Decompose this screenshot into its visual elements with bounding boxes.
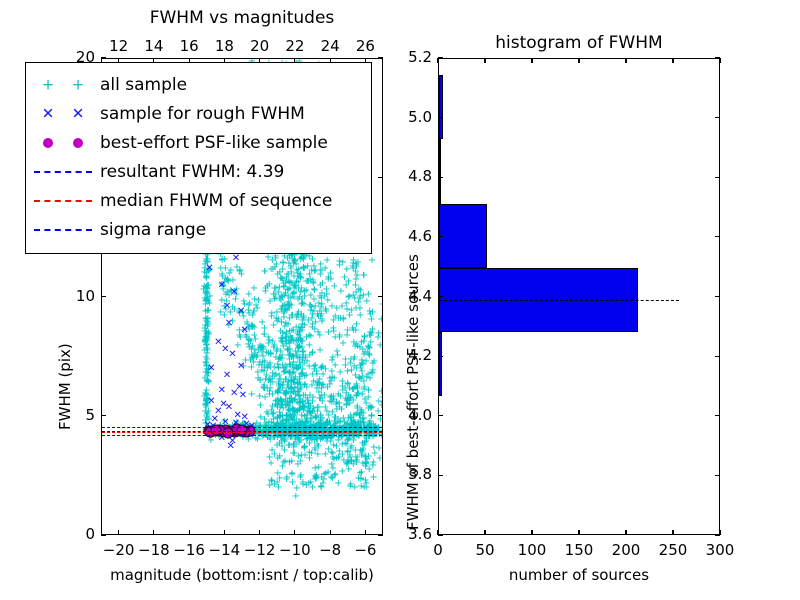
scatter-point-rough-sample: ✕ [239,391,247,401]
scatter-point-all-sample: + [346,359,354,369]
scatter-point-all-sample: + [264,410,272,420]
scatter-ytick-right [378,57,383,58]
scatter-point-all-sample: + [207,425,215,435]
scatter-point-all-sample: + [278,354,286,364]
scatter-ytick [101,415,106,416]
histogram-xticklabel: 50 [463,541,507,559]
scatter-point-all-sample: + [336,331,344,341]
scatter-point-all-sample: + [355,429,363,439]
scatter-point-all-sample: + [299,354,307,364]
scatter-point-all-sample: + [339,315,347,325]
scatter-point-all-sample: + [295,406,303,416]
scatter-point-all-sample: + [282,375,290,385]
scatter-point-all-sample: + [378,401,382,411]
scatter-point-all-sample: + [317,411,325,421]
scatter-point-all-sample: + [354,421,362,431]
scatter-point-all-sample: + [274,414,282,424]
scatter-point-all-sample: + [225,269,233,279]
scatter-point-all-sample: + [376,415,382,425]
scatter-point-all-sample: + [329,464,337,474]
scatter-point-all-sample: + [203,346,211,356]
scatter-point-all-sample: + [283,254,291,264]
legend-item[interactable]: median FHWM of sequence [26,186,371,215]
scatter-point-all-sample: + [321,403,329,413]
scatter-point-all-sample: + [285,394,293,404]
scatter-point-all-sample: + [291,256,299,266]
scatter-point-all-sample: + [316,346,324,356]
scatter-point-all-sample: + [202,255,210,265]
scatter-point-all-sample: + [212,429,220,439]
histogram-ytick-right [715,296,720,297]
scatter-point-all-sample: + [282,425,290,435]
scatter-point-all-sample: + [205,377,213,387]
scatter-point-all-sample: + [278,334,286,344]
scatter-point-all-sample: + [203,409,211,419]
scatter-point-all-sample: + [227,266,235,276]
scatter-point-all-sample: + [261,287,269,297]
scatter-title: FWHM vs magnitudes [101,8,383,28]
scatter-point-all-sample: + [295,334,303,344]
scatter-point-all-sample: + [274,355,282,365]
scatter-point-all-sample: + [353,404,361,414]
scatter-point-all-sample: + [364,290,372,300]
scatter-point-all-sample: + [312,421,320,431]
scatter-point-all-sample: + [346,393,354,403]
scatter-point-all-sample: + [317,294,325,304]
scatter-point-all-sample: + [322,421,330,431]
scatter-point-all-sample: + [289,326,297,336]
scatter-point-all-sample: + [315,428,323,438]
scatter-point-all-sample: + [277,396,285,406]
scatter-point-all-sample: + [316,375,324,385]
scatter-point-all-sample: + [362,399,370,409]
scatter-point-all-sample: + [284,277,292,287]
scatter-point-all-sample: + [338,433,346,443]
histogram-bar [439,139,441,203]
scatter-point-all-sample: + [335,261,343,271]
legend-item[interactable]: ✕✕sample for rough FWHM [26,99,371,128]
scatter-point-all-sample: + [232,285,240,295]
scatter-point-all-sample: + [301,321,309,331]
scatter-point-all-sample: + [318,473,326,483]
scatter-point-all-sample: + [334,351,342,361]
scatter-point-rough-sample: ✕ [214,407,222,417]
scatter-point-all-sample: + [352,288,360,298]
scatter-point-all-sample: + [331,413,339,423]
scatter-point-all-sample: + [295,432,303,442]
scatter-point-all-sample: + [255,361,263,371]
scatter-point-all-sample: + [313,310,321,320]
scatter-point-all-sample: + [230,287,238,297]
figure-canvas: FWHM vs magnitudes +++++++++++++++++++++… [0,0,800,600]
scatter-point-all-sample: + [301,391,309,401]
scatter-point-all-sample: + [274,421,282,431]
scatter-point-all-sample: + [297,324,305,334]
scatter-point-all-sample: + [249,323,257,333]
scatter-point-all-sample: + [377,387,382,397]
scatter-point-all-sample: + [348,442,356,452]
scatter-point-all-sample: + [295,392,303,402]
scatter-point-all-sample: + [295,438,303,448]
scatter-point-all-sample: + [246,337,254,347]
scatter-point-all-sample: + [272,421,280,431]
scatter-point-all-sample: + [338,382,346,392]
scatter-point-all-sample: + [260,367,268,377]
scatter-point-all-sample: + [273,403,281,413]
scatter-point-all-sample: + [265,361,273,371]
histogram-ytick [438,57,443,58]
scatter-point-all-sample: + [202,386,210,396]
dashdot-line-icon [34,229,92,231]
histogram-xticklabel: 100 [510,541,554,559]
scatter-point-all-sample: + [361,348,369,358]
scatter-point-all-sample: + [263,384,271,394]
scatter-point-all-sample: + [299,369,307,379]
scatter-point-all-sample: + [309,276,317,286]
scatter-point-all-sample: + [285,441,293,451]
scatter-point-all-sample: + [343,458,351,468]
scatter-point-all-sample: + [235,307,243,317]
scatter-point-all-sample: + [352,275,360,285]
scatter-point-all-sample: + [260,324,268,334]
scatter-point-all-sample: + [279,421,287,431]
scatter-point-all-sample: + [265,336,273,346]
scatter-point-all-sample: + [292,284,300,294]
scatter-point-all-sample: + [291,433,299,443]
scatter-point-all-sample: + [279,302,287,312]
scatter-point-all-sample: + [359,360,367,370]
scatter-point-all-sample: + [294,460,302,470]
legend-label: sigma range [100,220,206,240]
scatter-point-all-sample: + [287,384,295,394]
scatter-ytick [101,296,106,297]
scatter-point-all-sample: + [298,348,306,358]
scatter-point-all-sample: + [269,343,277,353]
scatter-point-all-sample: + [245,301,253,311]
scatter-point-all-sample: + [335,447,343,457]
scatter-point-rough-sample: ✕ [223,302,231,312]
scatter-point-all-sample: + [289,255,297,265]
scatter-point-all-sample: + [220,278,228,288]
scatter-point-all-sample: + [305,439,313,449]
scatter-point-all-sample: + [302,415,310,425]
scatter-point-all-sample: + [312,473,320,483]
scatter-point-all-sample: + [302,481,310,491]
scatter-point-all-sample: + [229,276,237,286]
scatter-point-all-sample: + [298,428,306,438]
scatter-point-all-sample: + [244,424,252,434]
scatter-point-all-sample: + [225,321,233,331]
scatter-point-all-sample: + [277,424,285,434]
scatter-point-all-sample: + [296,398,304,408]
scatter-point-all-sample: + [283,401,291,411]
scatter-point-all-sample: + [277,334,285,344]
scatter-point-rough-sample: ✕ [230,425,238,435]
scatter-point-all-sample: + [297,274,305,284]
scatter-point-all-sample: + [361,438,369,448]
scatter-point-all-sample: + [218,256,226,266]
scatter-point-all-sample: + [270,295,278,305]
scatter-point-rough-sample: ✕ [223,371,231,381]
scatter-point-all-sample: + [348,324,356,334]
scatter-point-all-sample: + [202,335,210,345]
scatter-point-all-sample: + [352,340,360,350]
scatter-point-all-sample: + [256,401,264,411]
scatter-point-all-sample: + [354,418,362,428]
scatter-point-all-sample: + [352,262,360,272]
scatter-point-all-sample: + [279,416,287,426]
scatter-point-all-sample: + [284,378,292,388]
scatter-point-all-sample: + [201,333,209,343]
scatter-point-all-sample: + [250,295,258,305]
scatter-point-all-sample: + [298,254,306,264]
scatter-point-all-sample: + [319,433,327,443]
scatter-point-all-sample: + [317,303,325,313]
scatter-point-all-sample: + [315,420,323,430]
legend-label: sample for rough FWHM [100,104,305,124]
scatter-point-all-sample: + [330,424,338,434]
scatter-point-rough-sample: ✕ [235,383,243,393]
legend-marker: ++ [26,75,100,95]
scatter-point-all-sample: + [254,368,262,378]
scatter-point-all-sample: + [353,384,361,394]
scatter-point-all-sample: + [302,417,310,427]
scatter-point-all-sample: + [204,264,212,274]
scatter-point-all-sample: + [305,270,313,280]
scatter-point-all-sample: + [316,312,324,322]
scatter-point-all-sample: + [271,432,279,442]
scatter-point-all-sample: + [248,322,256,332]
scatter-point-all-sample: + [322,418,330,428]
scatter-point-all-sample: + [343,448,351,458]
scatter-point-all-sample: + [203,281,211,291]
scatter-point-all-sample: + [343,305,351,315]
scatter-point-all-sample: + [353,409,361,419]
scatter-point-all-sample: + [252,301,260,311]
scatter-point-all-sample: + [310,424,318,434]
scatter-point-all-sample: + [273,413,281,423]
scatter-point-all-sample: + [299,253,307,263]
scatter-point-all-sample: + [283,416,291,426]
scatter-point-all-sample: + [304,316,312,326]
scatter-point-all-sample: + [308,414,316,424]
scatter-point-all-sample: + [299,365,307,375]
histogram-xlabel: number of sources [438,566,720,584]
scatter-point-all-sample: + [345,425,353,435]
scatter-point-all-sample: + [282,333,290,343]
scatter-point-all-sample: + [324,273,332,283]
scatter-point-all-sample: + [286,360,294,370]
scatter-point-all-sample: + [288,394,296,404]
scatter-point-all-sample: + [298,326,306,336]
scatter-point-all-sample: + [246,428,254,438]
scatter-ytick-right [378,177,383,178]
scatter-point-all-sample: + [298,337,306,347]
scatter-point-all-sample: + [242,331,250,341]
scatter-point-all-sample: + [379,398,382,408]
scatter-point-all-sample: + [202,361,210,371]
scatter-point-all-sample: + [203,257,211,267]
scatter-point-all-sample: + [282,475,290,485]
scatter-point-all-sample: + [286,410,294,420]
scatter-point-all-sample: + [201,260,209,270]
scatter-point-all-sample: + [287,387,295,397]
scatter-point-all-sample: + [278,335,286,345]
scatter-point-all-sample: + [202,269,210,279]
scatter-point-all-sample: + [302,333,310,343]
scatter-point-all-sample: + [253,351,261,361]
scatter-point-all-sample: + [305,362,313,372]
scatter-point-all-sample: + [320,391,328,401]
scatter-point-all-sample: + [281,375,289,385]
legend-item[interactable]: ++all sample [26,70,371,99]
scatter-point-all-sample: + [280,458,288,468]
scatter-point-all-sample: + [347,457,355,467]
scatter-point-all-sample: + [256,376,264,386]
scatter-point-all-sample: + [303,411,311,421]
scatter-point-all-sample: + [289,387,297,397]
scatter-point-all-sample: + [307,332,315,342]
scatter-point-all-sample: + [294,284,302,294]
histogram-xtick-top [719,58,720,63]
scatter-point-rough-sample: ✕ [241,413,249,423]
scatter-point-all-sample: + [290,365,298,375]
scatter-point-all-sample: + [244,340,252,350]
scatter-point-all-sample: + [203,288,211,298]
plus-marker-icon: + [72,77,85,92]
scatter-point-all-sample: + [275,283,283,293]
scatter-point-all-sample: + [254,346,262,356]
scatter-point-all-sample: + [306,306,314,316]
scatter-point-all-sample: + [307,421,315,431]
legend-label: median FHWM of sequence [100,191,332,211]
scatter-point-all-sample: + [326,380,334,390]
circle-marker-icon [73,138,83,148]
scatter-point-all-sample: + [290,411,298,421]
scatter-point-all-sample: + [299,402,307,412]
scatter-point-all-sample: + [334,436,342,446]
scatter-point-all-sample: + [277,437,285,447]
scatter-point-rough-sample: ✕ [237,307,245,317]
histogram-yticklabel: 4.8 [390,167,432,185]
scatter-point-all-sample: + [287,428,295,438]
scatter-point-all-sample: + [350,353,358,363]
scatter-point-all-sample: + [352,260,360,270]
scatter-xtick-bottom [365,530,366,535]
scatter-point-all-sample: + [282,435,290,445]
histogram-ylabel: FWHM of best-effort PSF-like sources [404,254,422,530]
scatter-point-all-sample: + [316,281,324,291]
scatter-point-all-sample: + [304,429,312,439]
scatter-point-all-sample: + [365,351,373,361]
scatter-point-all-sample: + [203,329,211,339]
scatter-point-all-sample: + [245,336,253,346]
scatter-point-all-sample: + [364,424,372,434]
scatter-point-all-sample: + [292,421,300,431]
scatter-point-all-sample: + [259,432,267,442]
legend-item[interactable]: best-effort PSF-like sample [26,128,371,157]
scatter-point-all-sample: + [244,429,252,439]
scatter-point-all-sample: + [365,343,373,353]
scatter-point-all-sample: + [204,297,212,307]
histogram-xtick-top [578,58,579,63]
scatter-point-all-sample: + [223,275,231,285]
scatter-point-all-sample: + [283,270,291,280]
scatter-point-all-sample: + [226,286,234,296]
scatter-point-all-sample: + [204,281,212,291]
scatter-point-all-sample: + [284,346,292,356]
scatter-point-all-sample: + [309,404,317,414]
scatter-point-all-sample: + [237,270,245,280]
scatter-point-all-sample: + [353,271,361,281]
scatter-point-all-sample: + [375,444,382,454]
scatter-point-all-sample: + [291,406,299,416]
scatter-point-all-sample: + [287,353,295,363]
scatter-point-all-sample: + [370,357,378,367]
scatter-point-all-sample: + [350,420,358,430]
scatter-point-all-sample: + [362,483,370,493]
scatter-point-all-sample: + [199,285,207,295]
scatter-point-all-sample: + [283,286,291,296]
histogram-xtick-top [531,58,532,63]
legend-item[interactable]: resultant FWHM: 4.39 [26,157,371,186]
histogram-ytick-right [715,415,720,416]
scatter-point-all-sample: + [353,384,361,394]
scatter-point-all-sample: + [273,387,281,397]
scatter-point-all-sample: + [268,390,276,400]
scatter-point-all-sample: + [366,328,374,338]
scatter-point-all-sample: + [277,375,285,385]
scatter-point-all-sample: + [218,428,226,438]
scatter-point-all-sample: + [274,360,282,370]
scatter-point-all-sample: + [368,308,376,318]
scatter-point-all-sample: + [278,293,286,303]
scatter-point-all-sample: + [202,341,210,351]
scatter-point-all-sample: + [259,383,267,393]
scatter-yticklabel: 10 [59,287,95,305]
scatter-point-all-sample: + [283,415,291,425]
scatter-point-all-sample: + [356,417,364,427]
scatter-point-all-sample: + [341,361,349,371]
scatter-point-all-sample: + [306,301,314,311]
scatter-point-all-sample: + [297,411,305,421]
scatter-point-all-sample: + [203,330,211,340]
scatter-point-all-sample: + [308,255,316,265]
scatter-point-all-sample: + [205,330,213,340]
scatter-point-all-sample: + [296,270,304,280]
scatter-point-all-sample: + [327,377,335,387]
scatter-point-all-sample: + [274,389,282,399]
scatter-point-all-sample: + [291,395,299,405]
scatter-point-all-sample: + [283,306,291,316]
scatter-point-all-sample: + [324,445,332,455]
scatter-point-all-sample: + [296,327,304,337]
scatter-point-all-sample: + [309,278,317,288]
scatter-point-all-sample: + [339,258,347,268]
scatter-point-all-sample: + [309,279,317,289]
scatter-point-all-sample: + [218,270,226,280]
scatter-point-all-sample: + [280,428,288,438]
scatter-point-all-sample: + [291,347,299,357]
scatter-point-all-sample: + [357,475,365,485]
scatter-point-all-sample: + [319,362,327,372]
scatter-point-all-sample: + [344,414,352,424]
scatter-point-all-sample: + [313,370,321,380]
scatter-point-all-sample: + [316,331,324,341]
legend-item[interactable]: sigma range [26,215,371,244]
scatter-point-all-sample: + [247,345,255,355]
scatter-point-all-sample: + [290,424,298,434]
